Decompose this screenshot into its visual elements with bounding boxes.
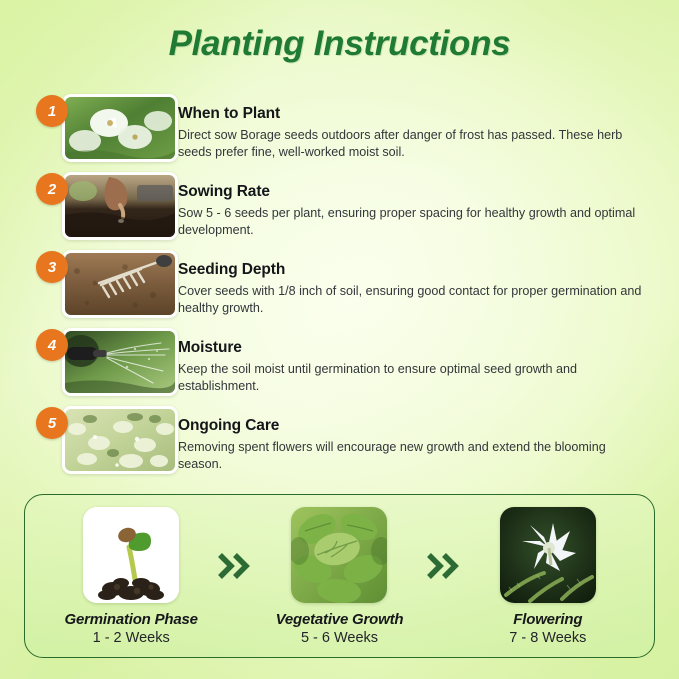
step-thumbnail [62,328,178,396]
phase-duration: 1 - 2 Weeks [49,630,213,646]
step-number-badge: 1 [36,95,68,127]
step-thumbnail [62,406,178,474]
step-heading: Seeding Depth [178,261,649,279]
green-leaves-foliage-photo [291,507,387,603]
phase-duration: 5 - 6 Weeks [257,630,421,646]
watering-nozzle-spray-photo [65,331,175,393]
step-text: Seeding Depth Cover seeds with 1/8 inch … [178,250,649,318]
step-heading: Ongoing Care [178,417,649,435]
sprouting-seedling-photo [83,507,179,603]
phase-name: Vegetative Growth [257,611,421,628]
step-number-badge: 5 [36,407,68,439]
timeline-phase: Flowering 7 - 8 Weeks [466,507,630,646]
step-body: Removing spent flowers will encourage ne… [178,439,649,474]
step-text: Ongoing Care Removing spent flowers will… [178,406,649,474]
step-number-badge: 3 [36,251,68,283]
step-text: Moisture Keep the soil moist until germi… [178,328,649,396]
hand-sowing-seeds-in-soil-photo [65,175,175,237]
step-item: 4 Moisture Keep the soil moist until ger… [34,328,649,404]
step-body: Direct sow Borage seeds outdoors after d… [178,127,649,162]
double-chevron-right-icon [422,507,466,579]
step-body: Sow 5 - 6 seeds per plant, ensuring prop… [178,205,649,240]
flowering-plant-bed-photo [65,409,175,471]
step-number-badge: 4 [36,329,68,361]
page-title: Planting Instructions [0,24,679,64]
phase-duration: 7 - 8 Weeks [466,630,630,646]
rake-on-soil-photo [65,253,175,315]
step-thumbnail-wrap: 2 [34,172,178,244]
timeline-phase: Germination Phase 1 - 2 Weeks [49,507,213,646]
step-body: Keep the soil moist until germination to… [178,361,649,396]
step-item: 2 Sowing Rate Sow 5 - 6 seeds per plant,… [34,172,649,248]
step-heading: When to Plant [178,105,649,123]
white-borage-bloom-photo [500,507,596,603]
step-text: When to Plant Direct sow Borage seeds ou… [178,94,649,162]
white-borage-flowers-photo [65,97,175,159]
infographic-page: Planting Instructions [0,0,679,679]
step-body: Cover seeds with 1/8 inch of soil, ensur… [178,283,649,318]
step-text: Sowing Rate Sow 5 - 6 seeds per plant, e… [178,172,649,240]
step-item: 3 Seeding Depth Cover seeds with 1/8 inc… [34,250,649,326]
step-thumbnail-wrap: 1 [34,94,178,166]
timeline-phase: Vegetative Growth 5 - 6 Weeks [257,507,421,646]
step-thumbnail [62,94,178,162]
step-item: 5 Ongoing Care Removing spent flowers wi… [34,406,649,482]
step-thumbnail-wrap: 4 [34,328,178,400]
timeline-row: Germination Phase 1 - 2 Weeks [25,495,654,657]
double-chevron-right-icon [213,507,257,579]
step-thumbnail-wrap: 3 [34,250,178,322]
step-thumbnail [62,172,178,240]
step-heading: Sowing Rate [178,183,649,201]
step-thumbnail-wrap: 5 [34,406,178,478]
phase-name: Flowering [466,611,630,628]
step-item: 1 When to Plant Direct sow Borage seeds … [34,94,649,170]
steps-list: 1 When to Plant Direct sow Borage seeds … [34,94,649,484]
step-thumbnail [62,250,178,318]
step-heading: Moisture [178,339,649,357]
growth-timeline-card: Germination Phase 1 - 2 Weeks [24,494,655,658]
phase-name: Germination Phase [49,611,213,628]
step-number-badge: 2 [36,173,68,205]
